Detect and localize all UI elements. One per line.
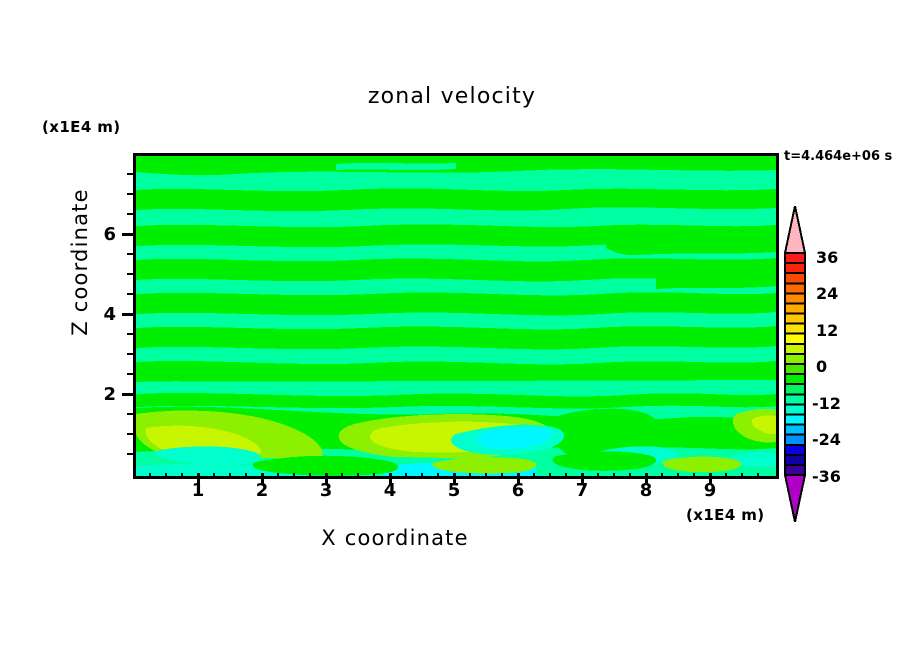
- time-annotation: t=4.464e+06 s: [784, 149, 892, 164]
- y-axis-unit-label: (x1E4 m): [42, 118, 121, 136]
- y-axis-title: Z coordinate: [68, 172, 92, 352]
- x-tick-label: 8: [626, 480, 666, 501]
- x-tick-label: 3: [306, 480, 346, 501]
- y-tick-label: 4: [76, 304, 116, 325]
- x-tick-label: 9: [690, 480, 730, 501]
- colorbar-label: 0: [816, 357, 827, 376]
- contour-plot-area: [133, 153, 779, 479]
- colorbar: 36 24 12 0 -12 -24 -36: [780, 205, 810, 523]
- colorbar-label: 12: [816, 321, 838, 340]
- colorbar-label: -12: [812, 394, 841, 413]
- figure-canvas: zonal velocity (x1E4 m) (x1E4 m) X coord…: [0, 0, 904, 654]
- x-tick-label: 7: [562, 480, 602, 501]
- colorbar-label: -36: [812, 467, 841, 486]
- x-tick-label: 1: [178, 480, 218, 501]
- x-tick-label: 2: [242, 480, 282, 501]
- x-axis-unit-label: (x1E4 m): [686, 506, 765, 524]
- x-axis-title: X coordinate: [0, 526, 790, 550]
- colorbar-label: 36: [816, 248, 838, 267]
- x-tick-label: 6: [498, 480, 538, 501]
- y-tick-label: 6: [76, 224, 116, 245]
- x-tick-label: 4: [370, 480, 410, 501]
- colorbar-label: 24: [816, 284, 838, 303]
- colorbar-label: -24: [812, 430, 841, 449]
- chart-title: zonal velocity: [0, 84, 904, 109]
- contour-field: [136, 156, 776, 476]
- y-tick-label: 2: [76, 384, 116, 405]
- x-tick-label: 5: [434, 480, 474, 501]
